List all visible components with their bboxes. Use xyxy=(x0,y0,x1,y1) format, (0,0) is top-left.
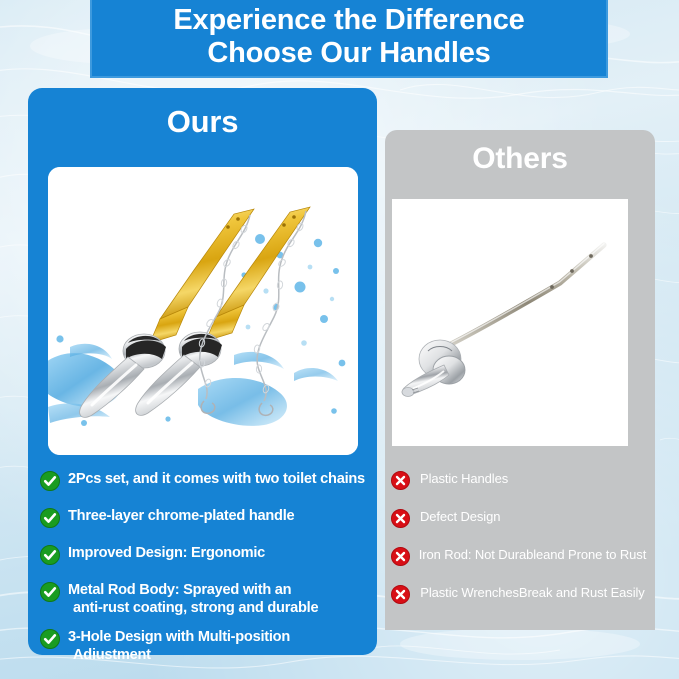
check-icon xyxy=(40,471,60,496)
feature-item: 3-Hole Design with Multi-position Adiust… xyxy=(40,628,377,664)
con-item: Plastic Handles xyxy=(391,470,649,495)
ours-panel: Ours xyxy=(28,88,377,655)
cross-icon xyxy=(391,509,410,533)
plain-chrome-handle-image xyxy=(392,199,628,446)
ours-title: Ours xyxy=(28,104,377,140)
con-item: Plastic WrenchesBreak and Rust Easily xyxy=(391,584,649,609)
check-icon xyxy=(40,545,60,570)
feature-item: Improved Design: Ergonomic xyxy=(40,544,377,570)
feature-item: 2Pcs set, and it comes with two toilet c… xyxy=(40,470,377,496)
check-icon xyxy=(40,629,60,654)
others-cons-list: Plastic Handles Defect Design xyxy=(391,470,649,622)
feature-item-line2: Adiustment xyxy=(68,646,290,664)
feature-item-label: Three-layer chrome-plated handle xyxy=(68,507,294,525)
con-item-label: Iron Rod: Not Durableand Prone to Rust xyxy=(416,546,649,563)
con-item-label: Defect Design xyxy=(416,508,649,525)
con-item-line2: to Rust xyxy=(606,547,646,562)
gold-chrome-handles-image xyxy=(48,167,358,455)
con-item-line2: Rust Easily xyxy=(581,585,645,600)
feature-item-label: 2Pcs set, and it comes with two toilet c… xyxy=(68,470,365,488)
ours-product-image-card xyxy=(48,167,358,455)
header-title-line1: Experience the Difference xyxy=(173,4,524,37)
cross-icon xyxy=(391,585,410,609)
con-item-label: Plastic Handles xyxy=(416,470,649,487)
feature-item-label: Metal Rod Body: Sprayed with an anti-rus… xyxy=(68,581,318,617)
others-product-image-card xyxy=(392,199,628,446)
cross-icon xyxy=(391,471,410,495)
feature-item-label: 3-Hole Design with Multi-position Adiust… xyxy=(68,628,290,664)
feature-item-line1: Metal Rod Body: Sprayed with an xyxy=(68,582,291,598)
check-icon xyxy=(40,582,60,607)
con-item: Defect Design xyxy=(391,508,649,533)
con-item: Iron Rod: Not Durableand Prone to Rust xyxy=(391,546,649,571)
con-item-line1: Plastic WrenchesBreak and xyxy=(420,585,577,600)
feature-item-label: Improved Design: Ergonomic xyxy=(68,544,265,562)
con-item-line1: Iron Rod: Not Durableand Prone xyxy=(419,547,602,562)
header-title-line2: Choose Our Handles xyxy=(207,37,490,70)
con-item-label: Plastic WrenchesBreak and Rust Easily xyxy=(416,584,649,601)
header-banner: Experience the Difference Choose Our Han… xyxy=(90,0,608,78)
check-icon xyxy=(40,508,60,533)
feature-item: Metal Rod Body: Sprayed with an anti-rus… xyxy=(40,581,377,617)
cross-icon xyxy=(391,547,410,571)
others-title: Others xyxy=(385,142,655,176)
feature-item-line2: anti-rust coating, strong and durable xyxy=(68,599,318,617)
others-panel: Others xyxy=(385,130,655,630)
feature-item: Three-layer chrome-plated handle xyxy=(40,507,377,533)
ours-features-list: 2Pcs set, and it comes with two toilet c… xyxy=(40,470,377,675)
feature-item-line1: 3-Hole Design with Multi-position xyxy=(68,629,290,645)
